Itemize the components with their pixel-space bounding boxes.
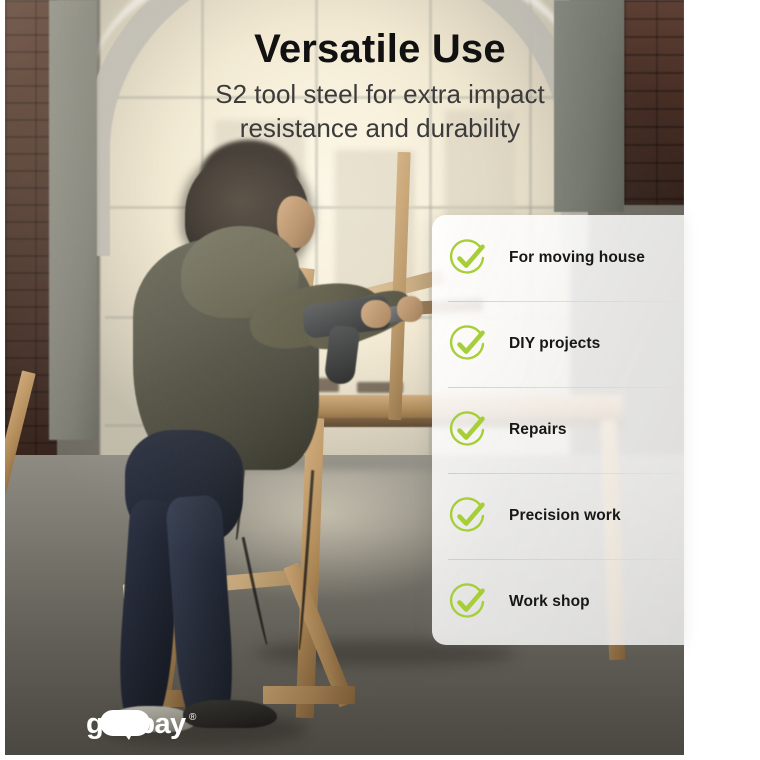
- goobay-logo: goobay ®: [86, 706, 206, 740]
- list-item-label: For moving house: [509, 249, 645, 267]
- list-item: For moving house: [432, 215, 684, 301]
- list-item: Work shop: [432, 559, 684, 645]
- subtitle-line-1: S2 tool steel for extra impact: [0, 78, 760, 111]
- subtitle-line-2: resistance and durability: [0, 112, 760, 145]
- list-item-label: Repairs: [509, 421, 567, 439]
- list-item-label: Work shop: [509, 593, 590, 611]
- logo-trademark: ®: [189, 712, 197, 723]
- list-item: DIY projects: [432, 301, 684, 387]
- list-item-label: DIY projects: [509, 335, 600, 353]
- list-item: Repairs: [432, 387, 684, 473]
- product-marketing-image: Versatile Use S2 tool steel for extra im…: [0, 0, 760, 760]
- check-circle-icon: [448, 238, 488, 278]
- feature-list-panel: For moving house DIY projects: [432, 215, 684, 645]
- check-circle-icon: [448, 496, 488, 536]
- list-item-label: Precision work: [509, 507, 621, 525]
- check-circle-icon: [448, 324, 488, 364]
- headline-block: Versatile Use S2 tool steel for extra im…: [0, 0, 760, 145]
- list-item: Precision work: [432, 473, 684, 559]
- check-circle-icon: [448, 582, 488, 622]
- check-circle-icon: [448, 410, 488, 450]
- feature-list: For moving house DIY projects: [432, 215, 684, 645]
- logo-wordmark: goobay: [86, 708, 186, 740]
- page-title: Versatile Use: [0, 28, 760, 70]
